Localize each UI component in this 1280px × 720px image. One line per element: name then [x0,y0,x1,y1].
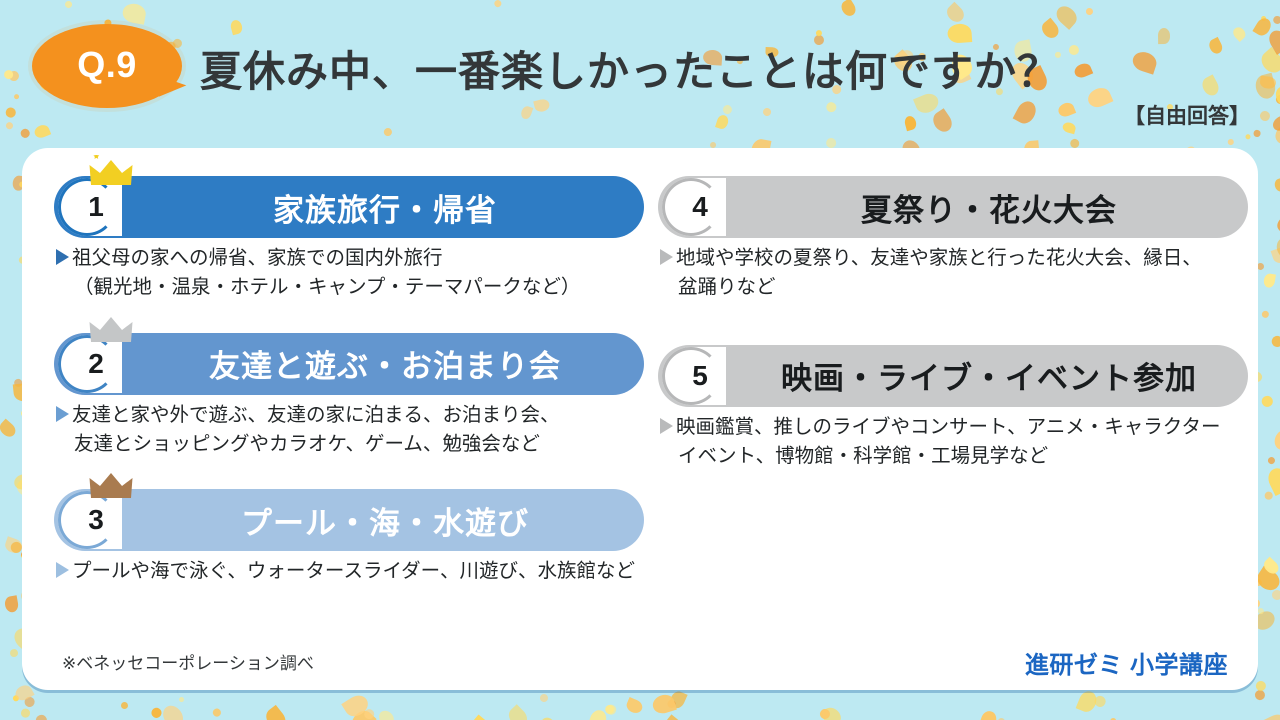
rank-number-ring [662,347,720,405]
rank-bar[interactable]: 4夏祭り・花火大会 [658,176,1248,238]
confetti-piece [1271,589,1280,601]
confetti-piece [1260,394,1275,409]
confetti-piece [23,696,35,708]
confetti-piece [363,708,375,720]
rank-desc-line1: 映画鑑賞、推しのライブやコンサート、アニメ・キャラクター [676,416,1220,438]
bullet-triangle-icon [660,249,673,265]
rank-description: 祖父母の家への帰省、家族での国内外旅行（観光地・温泉・ホテル・キャンプ・テーマパ… [54,244,644,303]
rank-number-label: 2 [88,348,104,380]
rank-item-1[interactable]: 1家族旅行・帰省祖父母の家への帰省、家族での国内外旅行（観光地・温泉・ホテル・キ… [54,176,644,303]
rank-number-badge: 4 [658,176,730,238]
rank-desc-line1: 地域や学校の夏祭り、友達や家族と行った花火大会、縁日、 [676,247,1202,269]
question-number-badge: Q.9 [32,24,182,108]
rank-item-2[interactable]: 2友達と遊ぶ・お泊まり会友達と家や外で遊ぶ、友達の家に泊まる、お泊まり会、友達と… [54,333,644,460]
bullet-triangle-icon [56,249,69,265]
rank-bar[interactable]: 3プール・海・水遊び [54,489,644,551]
rank-desc-line1: プールや海で泳ぐ、ウォータースライダー、川遊び、水族館など [72,560,635,582]
confetti-piece [1093,694,1107,708]
bullet-triangle-icon [660,418,673,434]
source-note: ※ベネッセコーポレーション調べ [62,649,314,674]
confetti-piece [3,536,23,554]
confetti-piece [9,647,20,658]
confetti-piece [663,714,683,720]
question-number-label: Q.9 [77,44,137,86]
confetti-piece [1274,177,1280,192]
confetti-piece [818,707,832,720]
confetti-piece [1252,688,1266,702]
rank-desc-line1: 友達と家や外で遊ぶ、友達の家に泊まる、お泊まり会、 [72,404,560,426]
bullet-triangle-icon [56,406,69,422]
confetti-piece [1271,334,1280,348]
rank-desc-line2: （観光地・温泉・ホテル・キャンプ・テーマパークなど） [56,273,644,302]
confetti-piece [667,700,676,709]
ranking-column-right: 4夏祭り・花火大会地域や学校の夏祭り、友達や家族と行った花火大会、縁日、盆踊りな… [658,176,1248,479]
slide-root: Q.9 夏休み中、一番楽しかったことは何ですか？ 【自由回答】 1家族旅行・帰省… [0,0,1280,720]
confetti-piece [1262,311,1270,319]
rank-title: 友達と遊ぶ・お泊まり会 [126,333,644,395]
rank-description: 映画鑑賞、推しのライブやコンサート、アニメ・キャラクターイベント、博物館・科学館… [658,413,1248,472]
rank-desc-line2: 盆踊りなど [660,273,1248,302]
confetti-piece [604,703,616,715]
confetti-piece [1272,428,1280,452]
confetti-piece [348,707,377,720]
rank-item-5[interactable]: 5映画・ライブ・イベント参加映画鑑賞、推しのライブやコンサート、アニメ・キャラク… [658,345,1248,472]
confetti-piece [1267,455,1277,465]
rank-title: 夏祭り・花火大会 [730,176,1248,238]
ranking-column-left: 1家族旅行・帰省祖父母の家への帰省、家族での国内外旅行（観光地・温泉・ホテル・キ… [54,176,644,616]
ranking-card: 1家族旅行・帰省祖父母の家への帰省、家族での国内外旅行（観光地・温泉・ホテル・キ… [22,148,1258,690]
confetti-piece [1264,465,1280,496]
confetti-piece [1274,236,1280,259]
confetti-piece [1261,557,1280,577]
confetti-piece [342,691,372,720]
rank-number-label: 4 [692,191,708,223]
confetti-piece [211,708,222,719]
confetti-piece [650,692,677,716]
confetti-piece [1275,213,1280,236]
brand-logo: 進研ゼミ 小学講座 [1025,645,1228,680]
confetti-piece [538,692,549,703]
bronze-crown-icon [88,468,134,502]
answer-type-note: 【自由回答】 [1124,100,1250,130]
confetti-piece [121,702,128,709]
gold-crown-icon [88,155,134,189]
confetti-piece [21,709,30,718]
confetti-piece [668,688,688,709]
confetti-piece [1076,689,1099,715]
confetti-piece [468,714,494,720]
confetti-piece [376,708,397,720]
confetti-piece [150,706,163,719]
bullet-triangle-icon [56,562,69,578]
rank-number-label: 5 [692,360,708,392]
confetti-piece [1265,492,1273,500]
rank-bar[interactable]: 5映画・ライブ・イベント参加 [658,345,1248,407]
confetti-piece [538,715,559,720]
confetti-piece [35,714,47,720]
confetti-piece [4,595,20,613]
confetti-piece [262,705,289,720]
confetti-piece [979,710,999,720]
rank-number-label: 1 [88,191,104,223]
confetti-piece [1270,245,1280,265]
rank-title: プール・海・水遊び [126,489,644,551]
confetti-piece [624,697,644,715]
rank-desc-line2: 友達とショッピングやカラオケ、ゲーム、勉強会など [56,430,644,459]
ranking-columns: 1家族旅行・帰省祖父母の家への帰省、家族での国内外旅行（観光地・温泉・ホテル・キ… [22,148,1258,690]
rank-bar[interactable]: 2友達と遊ぶ・お泊まり会 [54,333,644,395]
rank-desc-line1: 祖父母の家への帰省、家族での国内外旅行 [72,247,443,269]
confetti-piece [178,696,185,703]
rank-title: 家族旅行・帰省 [126,176,644,238]
silver-crown-icon [88,312,134,346]
confetti-piece [604,703,617,716]
confetti-piece [819,704,844,720]
rank-description: 友達と家や外で遊ぶ、友達の家に泊まる、お泊まり会、友達とショッピングやカラオケ、… [54,401,644,460]
rank-item-4[interactable]: 4夏祭り・花火大会地域や学校の夏祭り、友達や家族と行った花火大会、縁日、盆踊りな… [658,176,1248,303]
confetti-piece [159,702,187,720]
rank-number-label: 3 [88,504,104,536]
rank-description: 地域や学校の夏祭り、友達や家族と行った花火大会、縁日、盆踊りなど [658,244,1248,303]
rank-description: プールや海で泳ぐ、ウォータースライダー、川遊び、水族館など [54,557,644,586]
confetti-piece [505,704,530,720]
confetti-piece [1263,712,1280,720]
rank-desc-line2: イベント、博物館・科学館・工場見学など [660,442,1248,471]
confetti-piece [0,419,18,440]
rank-item-3[interactable]: 3プール・海・水遊びプールや海で泳ぐ、ウォータースライダー、川遊び、水族館など [54,489,644,586]
rank-bar[interactable]: 1家族旅行・帰省 [54,176,644,238]
rank-number-badge: 5 [658,345,730,407]
rank-number-ring [662,178,720,236]
confetti-piece [12,694,21,703]
confetti-piece [1263,274,1276,289]
rank-title: 映画・ライブ・イベント参加 [730,345,1248,407]
page-title: 夏休み中、一番楽しかったことは何ですか？ [200,38,1060,99]
confetti-piece [587,708,608,720]
header: Q.9 夏休み中、一番楽しかったことは何ですか？ 【自由回答】 [0,0,1280,148]
